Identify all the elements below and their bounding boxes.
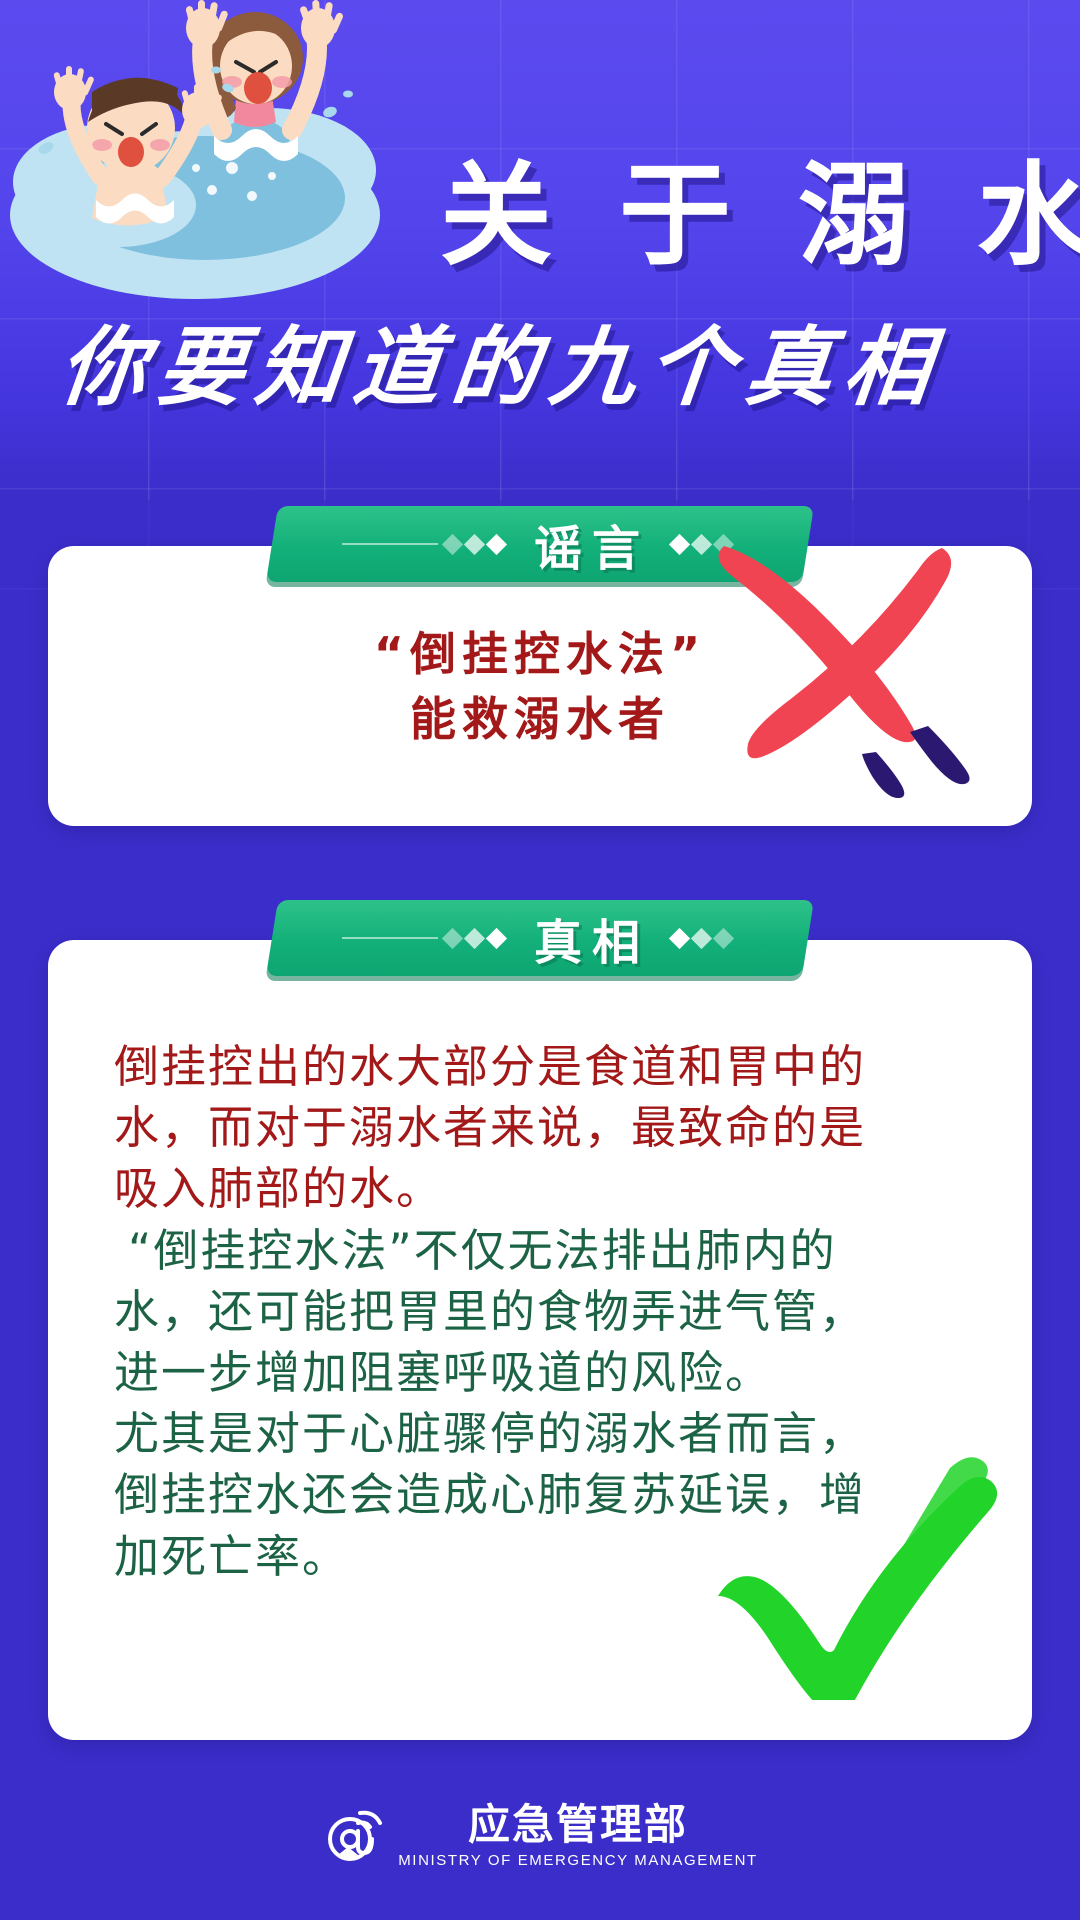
truth-line-red: 吸入肺部的水。: [114, 1158, 974, 1219]
rumor-banner-label: 谣言: [526, 509, 650, 579]
truth-line-red: 水，而对于溺水者来说，最致命的是: [114, 1097, 974, 1158]
ribbon-ornament-right: [672, 931, 738, 946]
drowning-children-illustration: [0, 0, 470, 330]
poster-root: 关 于 溺 水 你要知道的九个真相 “倒挂控水法” 能救溺水者 谣言: [0, 0, 1080, 1920]
footer-org-name-en: MINISTRY OF EMERGENCY MANAGEMENT: [398, 1852, 758, 1869]
truth-line-green: “倒挂控水法”不仅无法排出肺内的: [114, 1220, 974, 1281]
footer-org-name-cn: 应急管理部: [468, 1804, 688, 1846]
page-subtitle: 你要知道的九个真相: [55, 325, 1024, 411]
truth-banner: 真相: [266, 900, 814, 976]
ribbon-ornament-left: [342, 537, 504, 552]
footer: 应急管理部 MINISTRY OF EMERGENCY MANAGEMENT: [0, 1788, 1080, 1884]
truth-banner-label: 真相: [526, 903, 650, 973]
truth-line-green: 水，还可能把胃里的食物弄进气管，: [114, 1281, 974, 1342]
check-mark-icon: [700, 1420, 1000, 1700]
ribbon-ornament-left: [342, 931, 504, 946]
truth-line-red: 倒挂控出的水大部分是食道和胃中的: [114, 1036, 974, 1097]
page-title: 关 于 溺 水: [440, 160, 1060, 272]
hero-banner: 关 于 溺 水: [0, 0, 1080, 500]
truth-line-green: 进一步增加阻塞呼吸道的风险。: [114, 1342, 974, 1403]
at-sign-wifi-icon: [322, 1805, 384, 1867]
cross-mark-icon: [690, 520, 990, 800]
